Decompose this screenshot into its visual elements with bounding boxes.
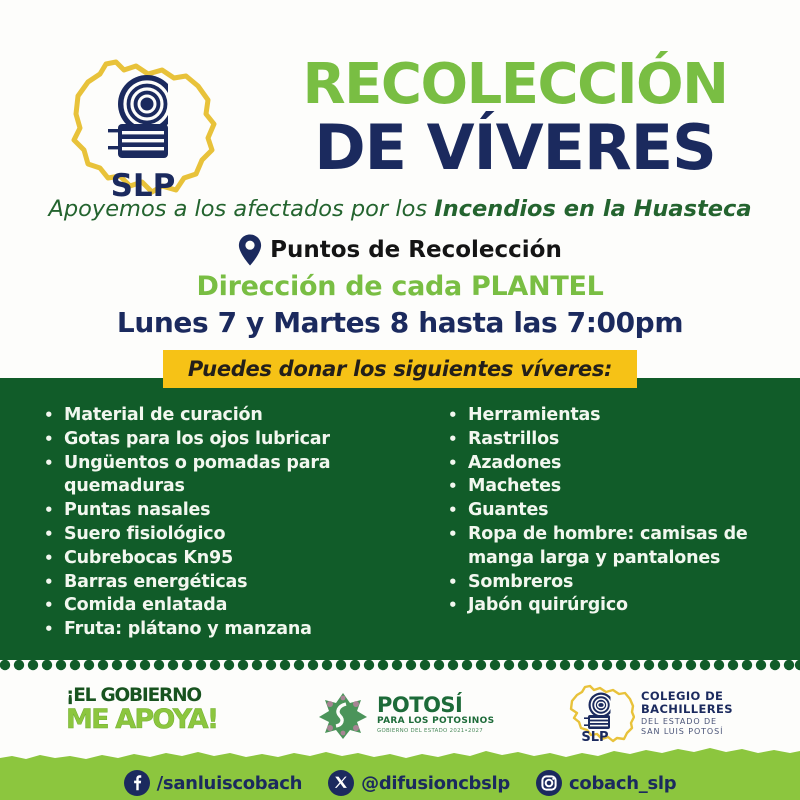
collection-points-label: Puntos de Recolección bbox=[270, 237, 562, 263]
donations-left-column: Material de curaciónGotas para los ojos … bbox=[0, 404, 420, 642]
donation-banner: Puedes donar los siguientes víveres: bbox=[163, 350, 637, 388]
donations-columns: Material de curaciónGotas para los ojos … bbox=[0, 404, 800, 642]
list-item: Guantes bbox=[442, 499, 800, 523]
page-title-line1: RECOLECCIÓN bbox=[250, 55, 780, 115]
subtitle-normal: Apoyemos a los afectados por los bbox=[48, 196, 434, 222]
list-item: Herramientas bbox=[442, 404, 800, 428]
subtitle: Apoyemos a los afectados por los Incendi… bbox=[0, 196, 800, 222]
list-item: Barras energéticas bbox=[38, 571, 420, 595]
gobierno-logo-line2: ME APOYA! bbox=[66, 706, 214, 733]
list-item: Cubrebocas Kn95 bbox=[38, 547, 420, 571]
list-item: Suero fisiológico bbox=[38, 523, 420, 547]
cobach-logo-line4: SAN LUIS POTOSÍ bbox=[641, 727, 733, 737]
gobierno-logo-line1: ¡EL GOBIERNO bbox=[66, 686, 214, 706]
poster-root: SLP RECOLECCIÓN DE VÍVERES Apoyemos a lo… bbox=[0, 0, 800, 800]
list-item: Fruta: plátano y manzana bbox=[38, 618, 420, 642]
list-item: Azadones bbox=[442, 452, 800, 476]
instagram-icon[interactable] bbox=[536, 770, 562, 796]
page-title-line2: DE VÍVERES bbox=[250, 115, 780, 181]
collection-info: Puntos de Recolección Dirección de cada … bbox=[0, 234, 800, 339]
cobach-logo-line3: DEL ESTADO DE bbox=[641, 717, 733, 727]
instagram-handle[interactable]: cobach_slp bbox=[569, 773, 676, 794]
social-item-facebook[interactable]: /sanluiscobach bbox=[124, 770, 302, 796]
list-item: Gotas para los ojos lubricar bbox=[38, 428, 420, 452]
potosi-logo-text: POTOSÍ PARA LOS POTOSINOS GOBIERNO DEL E… bbox=[377, 695, 494, 735]
collection-points-row: Puntos de Recolección bbox=[0, 234, 800, 266]
cobach-logo: SLP COLEGIO DE BACHILLERES DEL ESTADO DE… bbox=[563, 682, 763, 744]
facebook-icon[interactable] bbox=[124, 770, 150, 796]
donations-right-column: HerramientasRastrillosAzadonesMachetesGu… bbox=[420, 404, 800, 642]
donations-left-list: Material de curaciónGotas para los ojos … bbox=[38, 404, 420, 642]
donation-banner-text: Puedes donar los siguientes víveres: bbox=[188, 357, 612, 381]
list-item: Rastrillos bbox=[442, 428, 800, 452]
scallop-divider bbox=[0, 660, 800, 678]
potosi-logo-line3: GOBIERNO DEL ESTADO 2021•2027 bbox=[377, 727, 494, 735]
title-block: RECOLECCIÓN DE VÍVERES bbox=[250, 55, 780, 181]
list-item: Ungüentos o pomadas para quemaduras bbox=[38, 452, 420, 500]
potosi-logo-line1: POTOSÍ bbox=[377, 695, 494, 716]
header: SLP RECOLECCIÓN DE VÍVERES Apoyemos a lo… bbox=[0, 0, 800, 232]
donations-right-list: HerramientasRastrillosAzadonesMachetesGu… bbox=[442, 404, 800, 618]
cobach-logo-text: COLEGIO DE BACHILLERES DEL ESTADO DE SAN… bbox=[641, 690, 733, 737]
list-item: Ropa de hombre: camisas de manga larga y… bbox=[442, 523, 800, 571]
x-handle[interactable]: @difusioncbslp bbox=[361, 773, 510, 794]
potosi-logo: POTOSÍ PARA LOS POTOSINOS GOBIERNO DEL E… bbox=[316, 688, 496, 742]
cobach-logo-line1: COLEGIO DE bbox=[641, 690, 733, 704]
facebook-handle[interactable]: /sanluiscobach bbox=[157, 773, 302, 794]
social-item-x[interactable]: @difusioncbslp bbox=[328, 770, 510, 796]
slp-logo-svg: SLP bbox=[58, 52, 228, 202]
social-links: /sanluiscobach @difusioncbslp cobach_slp bbox=[0, 766, 800, 800]
potosi-emblem-icon bbox=[316, 690, 370, 740]
list-item: Comida enlatada bbox=[38, 594, 420, 618]
subtitle-bold: Incendios en la Huasteca bbox=[434, 196, 751, 222]
list-item: Sombreros bbox=[442, 571, 800, 595]
scallop-svg bbox=[0, 660, 800, 678]
cobach-mark-text: SLP bbox=[581, 730, 608, 743]
cobach-logo-line2: BACHILLERES bbox=[641, 703, 733, 717]
list-item: Jabón quirúrgico bbox=[442, 594, 800, 618]
social-item-instagram[interactable]: cobach_slp bbox=[536, 770, 676, 796]
potosi-logo-line2: PARA LOS POTOSINOS bbox=[377, 716, 494, 727]
slp-state-logo: SLP bbox=[58, 52, 228, 202]
location-pin-icon bbox=[238, 234, 262, 266]
cobach-emblem-icon: SLP bbox=[563, 683, 635, 743]
plantel-label: Dirección de cada PLANTEL bbox=[0, 271, 800, 302]
list-item: Puntas nasales bbox=[38, 499, 420, 523]
x-twitter-icon[interactable] bbox=[328, 770, 354, 796]
scallop-dots bbox=[0, 660, 800, 670]
list-item: Machetes bbox=[442, 475, 800, 499]
dates-label: Lunes 7 y Martes 8 hasta las 7:00pm bbox=[0, 306, 800, 339]
list-item: Material de curación bbox=[38, 404, 420, 428]
gobierno-me-apoya-logo: ¡EL GOBIERNO ME APOYA! bbox=[66, 686, 214, 740]
